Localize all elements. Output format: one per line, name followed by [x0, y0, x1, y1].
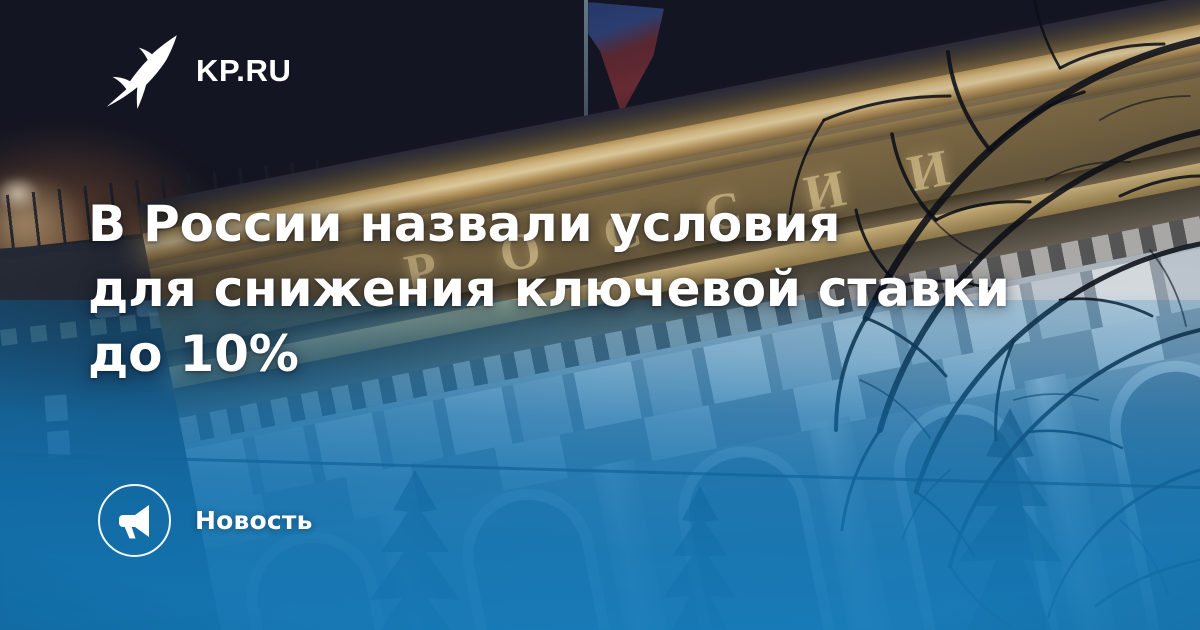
social-share-card: Р О С С И И — [0, 0, 1200, 630]
page-title: В России назвали условия для снижения кл… — [88, 192, 1098, 387]
swallow-bird-icon — [104, 33, 178, 109]
badge-icon-circle — [98, 484, 171, 557]
status-badge[interactable]: Новость — [98, 484, 313, 557]
brand-logo[interactable]: KP.RU — [104, 33, 291, 109]
headline-line-2: для снижения ключевой ставки — [88, 257, 1098, 322]
headline-line-3: до 10% — [88, 322, 1098, 387]
megaphone-icon — [115, 501, 155, 541]
badge-label-text: Новость — [195, 506, 313, 535]
brand-name-text: KP.RU — [196, 53, 291, 89]
headline-line-1: В России назвали условия — [88, 192, 1098, 257]
card-content: KP.RU В России назвали условия для сниже… — [0, 0, 1200, 630]
